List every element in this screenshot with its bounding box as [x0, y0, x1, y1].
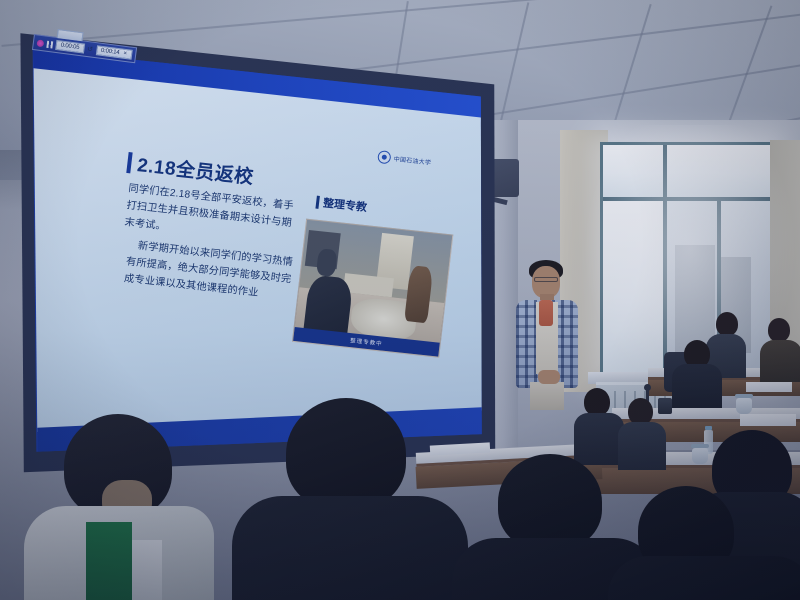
- head: [286, 398, 406, 510]
- head: [768, 318, 790, 342]
- presenter-lower-body: [530, 382, 564, 410]
- glasses-icon: [534, 277, 558, 282]
- head: [628, 398, 653, 425]
- microphone-head: [644, 384, 651, 391]
- total-time-chip[interactable]: 0:00:14 ×: [95, 45, 132, 60]
- head: [716, 312, 738, 336]
- slide-photo: 整理专教中: [292, 219, 453, 358]
- total-time: 0:00:14: [101, 48, 120, 56]
- presenter-scarf: [539, 300, 553, 326]
- head: [584, 388, 610, 416]
- magenta-marker-icon[interactable]: [36, 39, 44, 47]
- classroom-scene: 中国石油大学 2.18全员返校 同学们在2.18号全部平安返校，着手打扫卫生并且…: [0, 0, 800, 600]
- audience-member-front-left: [24, 414, 210, 600]
- presenter-hands: [538, 370, 560, 384]
- elapsed-time: 0:00:05: [60, 43, 79, 51]
- loop-icon[interactable]: ↺: [87, 45, 94, 53]
- presenter: [508, 258, 586, 408]
- slide-paragraph-2: 新学期开始以来同学们的学习热情有所提高，绝大部分同学能够及时完成专业课以及其他课…: [123, 238, 296, 306]
- body: [672, 364, 722, 408]
- tea-cup-lid: [735, 394, 753, 398]
- media-bar-tab[interactable]: [57, 29, 84, 41]
- audience-member-front-far-right: [608, 486, 800, 600]
- audience-member-front-center: [232, 398, 462, 600]
- documents-2: [740, 414, 796, 426]
- title-accent-bar: [126, 152, 132, 173]
- audience-member-4: [574, 388, 622, 458]
- slide-logo-text: 中国石油大学: [393, 154, 432, 167]
- slide-logo: 中国石油大学: [377, 150, 432, 169]
- caption-text: 整理专教: [322, 194, 368, 215]
- pause-icon[interactable]: [46, 40, 53, 48]
- audience-member-2: [760, 318, 800, 376]
- university-seal-icon: [377, 150, 391, 164]
- close-icon[interactable]: ×: [122, 51, 127, 58]
- tea-cup: [736, 398, 752, 414]
- documents: [746, 382, 792, 392]
- caption-accent-bar: [315, 195, 319, 208]
- body: [760, 340, 800, 382]
- audience-member-3: [672, 340, 720, 400]
- head: [498, 454, 602, 550]
- photo-footer-text: 整理专教中: [350, 336, 383, 347]
- slide-photo-caption: 整理专教: [315, 194, 368, 215]
- elapsed-time-chip[interactable]: 0:00:05: [55, 40, 85, 54]
